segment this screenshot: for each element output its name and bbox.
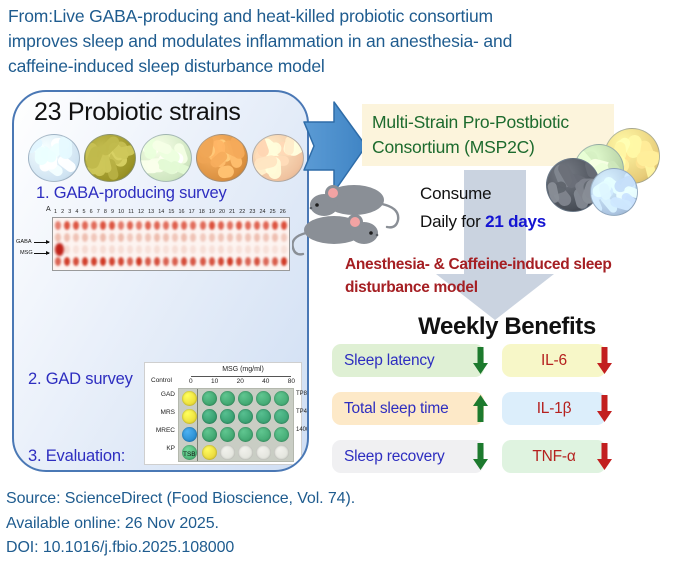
tlc-band-row: [53, 257, 289, 266]
dosing-instructions: Consume Daily for 21 days: [420, 180, 630, 236]
tlc-lane-number: 16: [178, 208, 184, 216]
benefit-pill-sleep: Total sleep time: [332, 392, 484, 425]
source-line-2: Available online: 26 Nov 2025.: [6, 512, 678, 537]
page-title: From:Live GABA-producing and heat-killed…: [8, 4, 680, 79]
strain-circle-1: [28, 134, 80, 182]
microplate-well: [274, 391, 289, 406]
tlc-lane-number: 8: [104, 208, 107, 216]
trend-arrow-down-icon: [596, 346, 613, 375]
tlc-row-label-gaba: GABA: [16, 239, 32, 245]
tlc-arrow-gaba-icon: [34, 242, 49, 243]
microplate-well: [220, 391, 235, 406]
benefit-pill-sleep: Sleep recovery: [332, 440, 484, 473]
tlc-arrow-msg-icon: [34, 253, 49, 254]
tlc-lane-number: 11: [128, 208, 134, 216]
model-line-2: disturbance model: [345, 276, 685, 299]
benefit-pill-cytokine: TNF-α: [502, 440, 606, 473]
microplate-well: [238, 427, 253, 442]
tlc-lane-number: 25: [270, 208, 276, 216]
microplate-concentration: 10: [211, 378, 218, 385]
tlc-lane-number: 24: [259, 208, 265, 216]
microplate-well: [256, 427, 271, 442]
microplate-right-label: TP8: [296, 391, 307, 397]
microplate-header: MSG (mg/ml): [189, 366, 297, 373]
tlc-lane-number: 20: [219, 208, 225, 216]
strain-circles: [28, 134, 300, 180]
microplate-well: [220, 445, 235, 460]
microplate-well: [220, 427, 235, 442]
benefit-pill-sleep: Sleep latency: [332, 344, 484, 377]
microplate-right-label: 14008: [296, 427, 309, 433]
microplate-row-label: MREC: [149, 427, 175, 434]
cytokine-label: TNF-α: [532, 448, 575, 466]
benefit-label: Sleep latency: [344, 352, 434, 370]
strain-circle-4: [196, 134, 248, 182]
strain-circle-3: [140, 134, 192, 182]
microplate-tsb-label: TSB: [183, 451, 196, 458]
microplate-well: [202, 409, 217, 424]
strain-circle-2: [84, 134, 136, 182]
microplate-well: [256, 391, 271, 406]
tlc-lane-number: 5: [83, 208, 86, 216]
tlc-lane-number: 19: [209, 208, 215, 216]
panel-heading: 23 Probiotic strains: [34, 98, 241, 127]
title-line-3: caffeine-induced sleep disturbance model: [8, 54, 680, 79]
microplate-well: [238, 409, 253, 424]
step-1-label: 1. GABA-producing survey: [36, 184, 227, 203]
tlc-lane-number: 10: [118, 208, 124, 216]
microplate-concentration: 40: [262, 378, 269, 385]
microplate-control-label: Control: [151, 377, 172, 384]
tlc-lane-number: 15: [168, 208, 174, 216]
step-2-label: 2. GAD survey: [28, 370, 133, 389]
microplate-concentration: 20: [237, 378, 244, 385]
microplate-well: [256, 445, 271, 460]
probiotic-screening-panel: 23 Probiotic strains 1. GABA-producing s…: [12, 90, 309, 472]
microplate-well: [220, 409, 235, 424]
microplate-rule: [191, 376, 291, 377]
tlc-lane-number: 7: [97, 208, 100, 216]
tlc-lane-number: 21: [229, 208, 235, 216]
benefit-label: Total sleep time: [344, 400, 449, 418]
microplate-row-label: GAD: [149, 391, 175, 398]
tlc-band-row: [53, 221, 289, 230]
microplate-well: [238, 445, 253, 460]
title-line-1: From:Live GABA-producing and heat-killed…: [8, 4, 680, 29]
dosing-line-2: Daily for 21 days: [420, 208, 630, 236]
gad-microplate-figure: MSG (mg/ml) Control 010204080 TSB GADMRS…: [144, 362, 302, 465]
tlc-band-row: [53, 233, 289, 242]
tlc-gaba-standard-spot: [55, 243, 64, 256]
microplate-control-well: [182, 427, 197, 442]
tlc-lane-number: 3: [68, 208, 71, 216]
microplate-well: [274, 427, 289, 442]
source-block: Source: ScienceDirect (Food Bioscience, …: [6, 487, 678, 561]
step-3-label: 3. Evaluation:: [28, 447, 125, 466]
microplate-control-well: [182, 409, 197, 424]
disease-model-label: Anesthesia- & Caffeine-induced sleep dis…: [345, 253, 685, 299]
microplate-concentration: 0: [189, 378, 193, 385]
trend-arrow-down-icon: [472, 346, 489, 375]
tlc-lane-number: 17: [189, 208, 195, 216]
tlc-panel-label: A: [46, 206, 51, 213]
microplate-well: [238, 391, 253, 406]
tlc-lane-number: 1: [54, 208, 57, 216]
tlc-row-label-msg: MSG: [20, 250, 33, 256]
tlc-band-row: [53, 245, 289, 254]
trend-arrow-down-icon: [596, 442, 613, 471]
tlc-lane-number: 22: [239, 208, 245, 216]
graphical-abstract: From:Live GABA-producing and heat-killed…: [0, 0, 685, 565]
tlc-lane-number: 2: [61, 208, 64, 216]
tlc-lane-number: 12: [138, 208, 144, 216]
microplate-well: [274, 409, 289, 424]
tlc-lane-number: 13: [148, 208, 154, 216]
tlc-plate: [52, 217, 290, 271]
tlc-lane-number: 9: [111, 208, 114, 216]
microplate-well: [202, 391, 217, 406]
microplate-control-well: [182, 391, 197, 406]
microplate-well: [274, 445, 289, 460]
tlc-lane-number: 23: [249, 208, 255, 216]
tlc-lane-number: 6: [90, 208, 93, 216]
model-line-1: Anesthesia- & Caffeine-induced sleep: [345, 253, 685, 276]
trend-arrow-down-icon: [472, 442, 489, 471]
tlc-lane-number: 14: [158, 208, 164, 216]
microplate-concentrations: 010204080: [189, 378, 295, 385]
source-line-3: DOI: 10.1016/j.fbio.2025.108000: [6, 536, 678, 561]
microplate-well: [202, 427, 217, 442]
dosing-duration: 21 days: [485, 212, 546, 231]
tlc-lane-numbers: 1234567891011121314151617181920212223242…: [54, 208, 286, 217]
tlc-lane-number: 26: [280, 208, 286, 216]
microplate-row-label: KP: [149, 445, 175, 452]
tlc-gel-figure: A 12345678910111213141516171819202122232…: [32, 208, 294, 270]
strain-circle-5: [252, 134, 304, 182]
benefit-pill-cytokine: IL-6: [502, 344, 606, 377]
microplate-row-label: MRS: [149, 409, 175, 416]
dosing-prefix: Daily for: [420, 212, 485, 231]
microplate-right-label: TP4: [296, 409, 307, 415]
benefit-label: Sleep recovery: [344, 448, 445, 466]
dosing-line-1: Consume: [420, 180, 630, 208]
cytokine-label: IL-1β: [537, 400, 572, 418]
microplate-well: [202, 445, 217, 460]
source-line-1: Source: ScienceDirect (Food Bioscience, …: [6, 487, 678, 512]
microplate-concentration: 80: [288, 378, 295, 385]
title-line-2: improves sleep and modulates inflammatio…: [8, 29, 680, 54]
mouse-icon: [292, 178, 412, 258]
microplate-divider: [197, 389, 198, 461]
trend-arrow-up-icon: [472, 394, 489, 423]
tlc-lane-number: 4: [75, 208, 78, 216]
microplate-well: [256, 409, 271, 424]
benefit-pill-cytokine: IL-1β: [502, 392, 606, 425]
cytokine-label: IL-6: [541, 352, 567, 370]
trend-arrow-down-icon: [596, 394, 613, 423]
weekly-benefits-title: Weekly Benefits: [382, 313, 632, 341]
tlc-lane-number: 18: [199, 208, 205, 216]
